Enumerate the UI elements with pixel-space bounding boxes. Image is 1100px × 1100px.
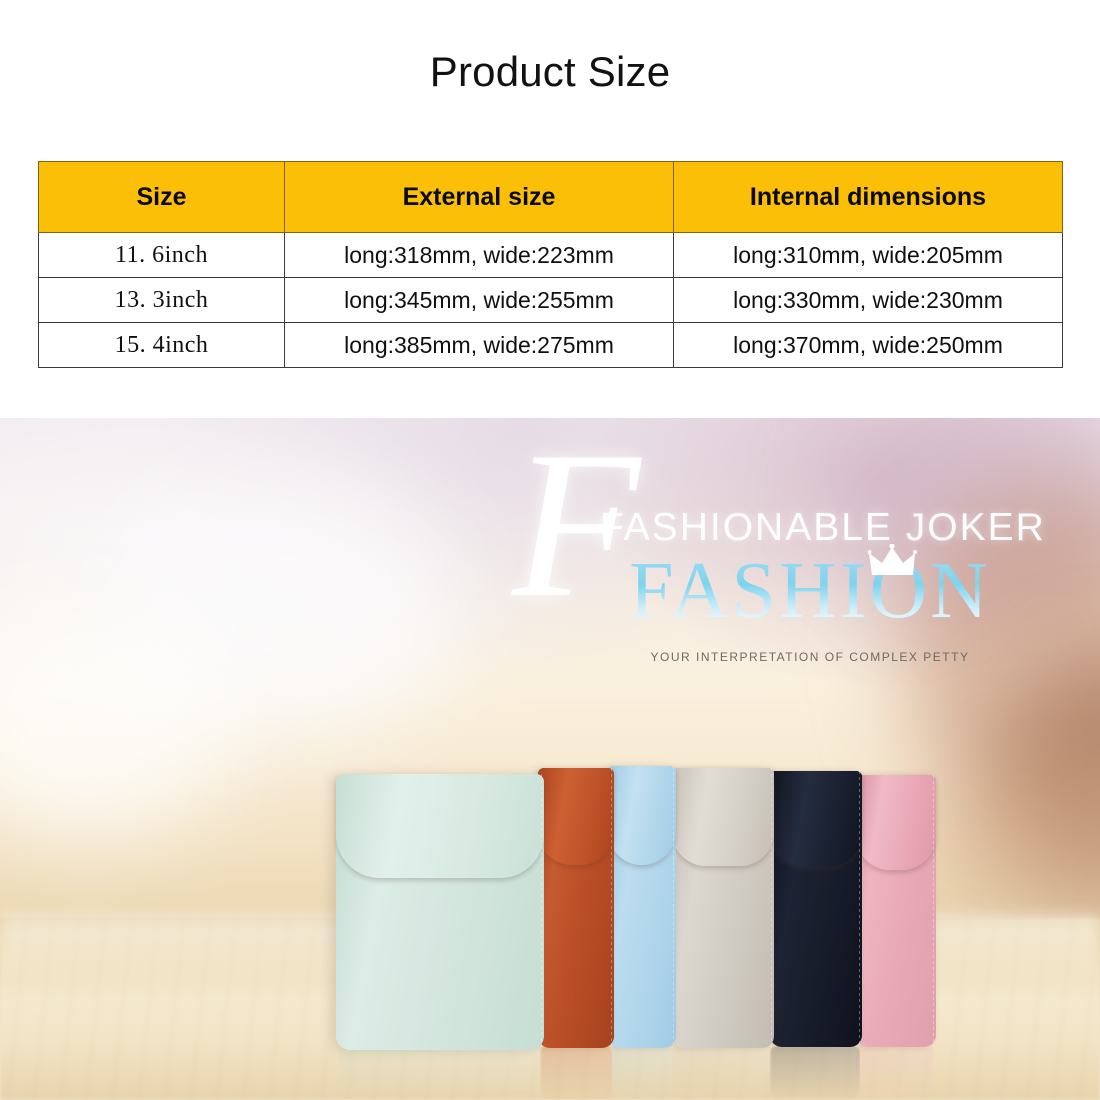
- sleeve-reflection-orange: [540, 1046, 612, 1100]
- sleeve-mint-green[interactable]: [336, 774, 544, 1050]
- cell-size: 13. 3inch: [39, 278, 285, 323]
- product-lifestyle-photo: F FASHIONABLE JOKER FASHION YOUR INTERPR…: [0, 418, 1100, 1100]
- sleeve-reflection-gray: [672, 1046, 772, 1100]
- sleeve-stitching: [771, 768, 772, 1048]
- product-size-table: Size External size Internal dimensions 1…: [38, 161, 1063, 368]
- sleeve-flap: [336, 774, 544, 878]
- cell-external-size: long:345mm, wide:255mm: [285, 278, 674, 323]
- sleeve-lineup: [0, 418, 1100, 1100]
- sleeve-reflection-navy: [770, 1046, 860, 1100]
- sleeve-stitching: [541, 774, 542, 1050]
- column-header-size: Size: [39, 162, 285, 233]
- cell-internal-dimensions: long:370mm, wide:250mm: [674, 323, 1063, 368]
- sleeve-reflection-mint: [338, 1046, 542, 1100]
- cell-size: 15. 4inch: [39, 323, 285, 368]
- sleeve-flap: [672, 768, 774, 866]
- sleeve-stitching: [933, 775, 934, 1047]
- sleeve-flap: [856, 775, 936, 870]
- sleeve-flap: [770, 771, 862, 867]
- sleeve-navy-black[interactable]: [770, 771, 862, 1047]
- table-row: 13. 3inch long:345mm, wide:255mm long:33…: [39, 278, 1063, 323]
- sleeve-rust-orange[interactable]: [538, 768, 614, 1048]
- product-size-panel: Product Size Size External size Internal…: [0, 0, 1100, 418]
- page-title: Product Size: [0, 48, 1100, 96]
- sleeve-reflection-pink: [856, 1046, 934, 1098]
- sleeve-warm-gray[interactable]: [672, 768, 774, 1048]
- table-row: 15. 4inch long:385mm, wide:275mm long:37…: [39, 323, 1063, 368]
- sleeve-stitching: [673, 766, 674, 1048]
- sleeve-stitching: [611, 768, 612, 1048]
- sleeve-reflection-blue: [610, 1046, 674, 1100]
- cell-external-size: long:318mm, wide:223mm: [285, 233, 674, 278]
- cell-internal-dimensions: long:310mm, wide:205mm: [674, 233, 1063, 278]
- sleeve-stitching: [859, 771, 860, 1047]
- sleeve-flap: [608, 766, 676, 865]
- column-header-internal: Internal dimensions: [674, 162, 1063, 233]
- table-row: 11. 6inch long:318mm, wide:223mm long:31…: [39, 233, 1063, 278]
- sleeve-pink[interactable]: [856, 775, 936, 1047]
- cell-external-size: long:385mm, wide:275mm: [285, 323, 674, 368]
- table-header-row: Size External size Internal dimensions: [39, 162, 1063, 233]
- sleeve-light-blue[interactable]: [608, 766, 676, 1048]
- cell-internal-dimensions: long:330mm, wide:230mm: [674, 278, 1063, 323]
- column-header-external: External size: [285, 162, 674, 233]
- cell-size: 11. 6inch: [39, 233, 285, 278]
- sleeve-flap: [538, 768, 614, 865]
